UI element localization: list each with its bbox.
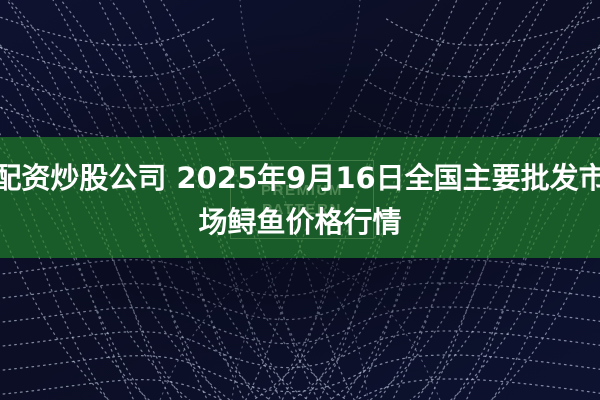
banner-image: PREMIUM PATTERN 配资炒股公司 2025年9月16日全国主要批发市… — [0, 0, 600, 400]
green-title-band — [0, 137, 600, 258]
band-dotted-pattern — [0, 137, 600, 258]
